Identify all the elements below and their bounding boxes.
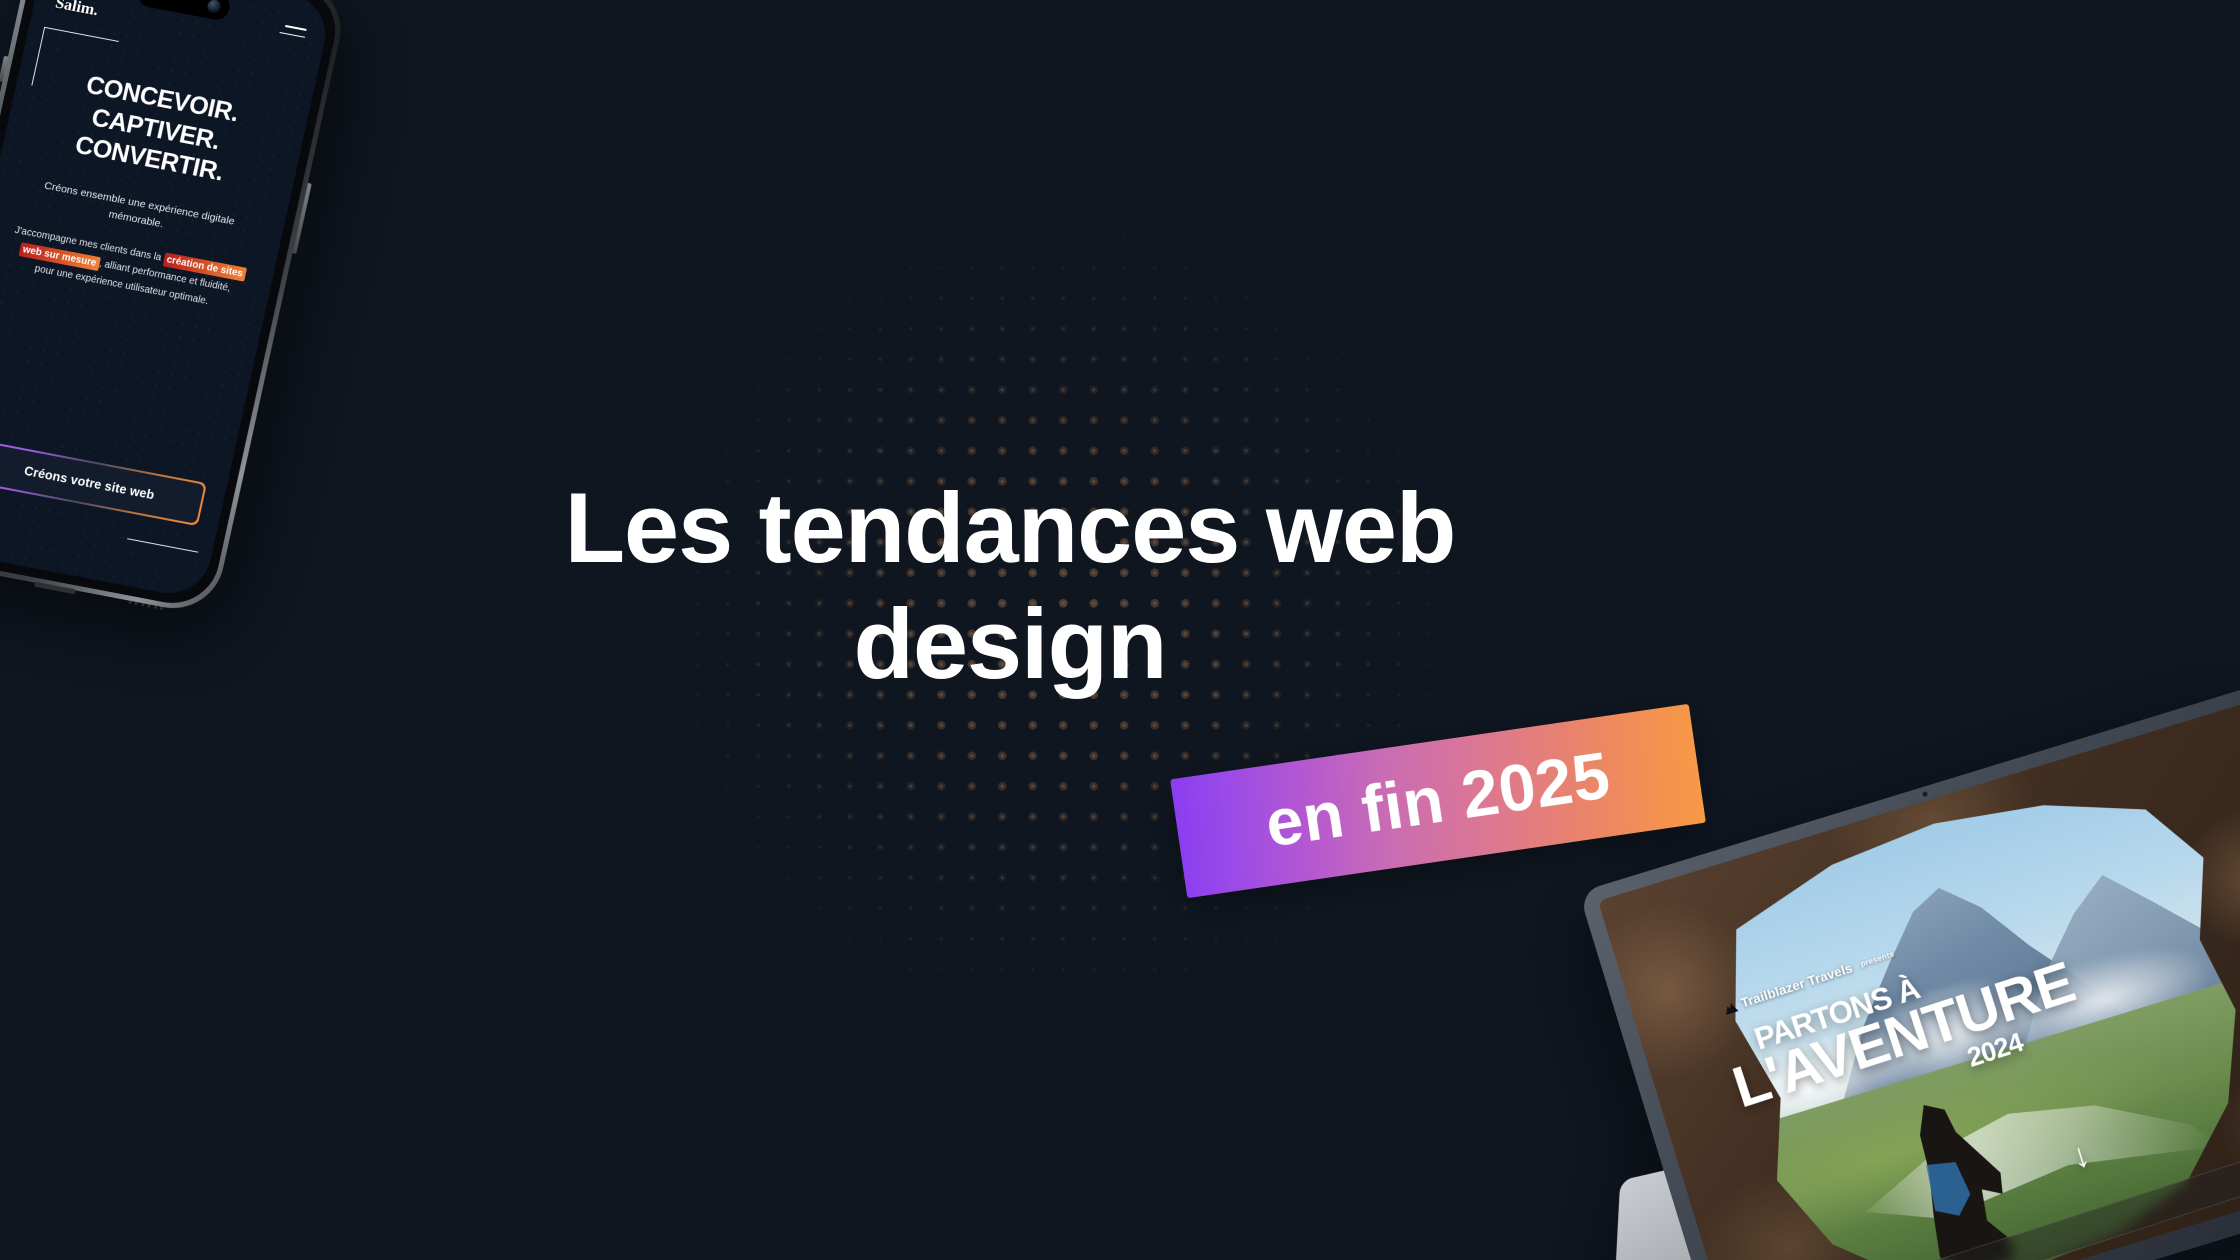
mountain-logo-icon (1722, 998, 1738, 1014)
dynamic-island (136, 0, 232, 22)
front-camera-icon (206, 0, 222, 14)
phone-screen: Alex Salim. CONCEVOIR. CAPTIVER. CONVE (0, 0, 333, 600)
date-badge-label: en fin 2025 (1170, 704, 1706, 898)
phone-site-logo[interactable]: Alex Salim. (54, 0, 104, 20)
decorative-corner-bracket-bottom-right (127, 538, 198, 552)
hero-canvas: Alex Salim. CONCEVOIR. CAPTIVER. CONVE (0, 0, 2240, 1260)
page-title-line-2: design (450, 586, 1570, 702)
phone-cta-label: Créons votre site web (0, 442, 205, 524)
phone-mockup: Alex Salim. CONCEVOIR. CAPTIVER. CONVE (0, 0, 350, 617)
hamburger-menu-icon[interactable] (278, 24, 307, 44)
phone-bezel: Alex Salim. CONCEVOIR. CAPTIVER. CONVE (0, 0, 344, 611)
page-title-line-1: Les tendances web (450, 470, 1570, 586)
phone-frame: Alex Salim. CONCEVOIR. CAPTIVER. CONVE (0, 0, 350, 617)
phone-headline: CONCEVOIR. CAPTIVER. CONVERTIR. (32, 63, 280, 196)
hamburger-line-2 (279, 32, 305, 38)
phone-cta-button[interactable]: Créons votre site web (0, 440, 207, 526)
hamburger-line-1 (285, 25, 307, 31)
page-title: Les tendances web design (450, 470, 1570, 702)
laptop-webcam-icon (1922, 791, 1928, 797)
date-badge: en fin 2025 (1170, 704, 1706, 898)
phone-hero-content: CONCEVOIR. CAPTIVER. CONVERTIR. Créons e… (0, 57, 309, 321)
phone-logo-line-2: Salim. (54, 0, 100, 20)
